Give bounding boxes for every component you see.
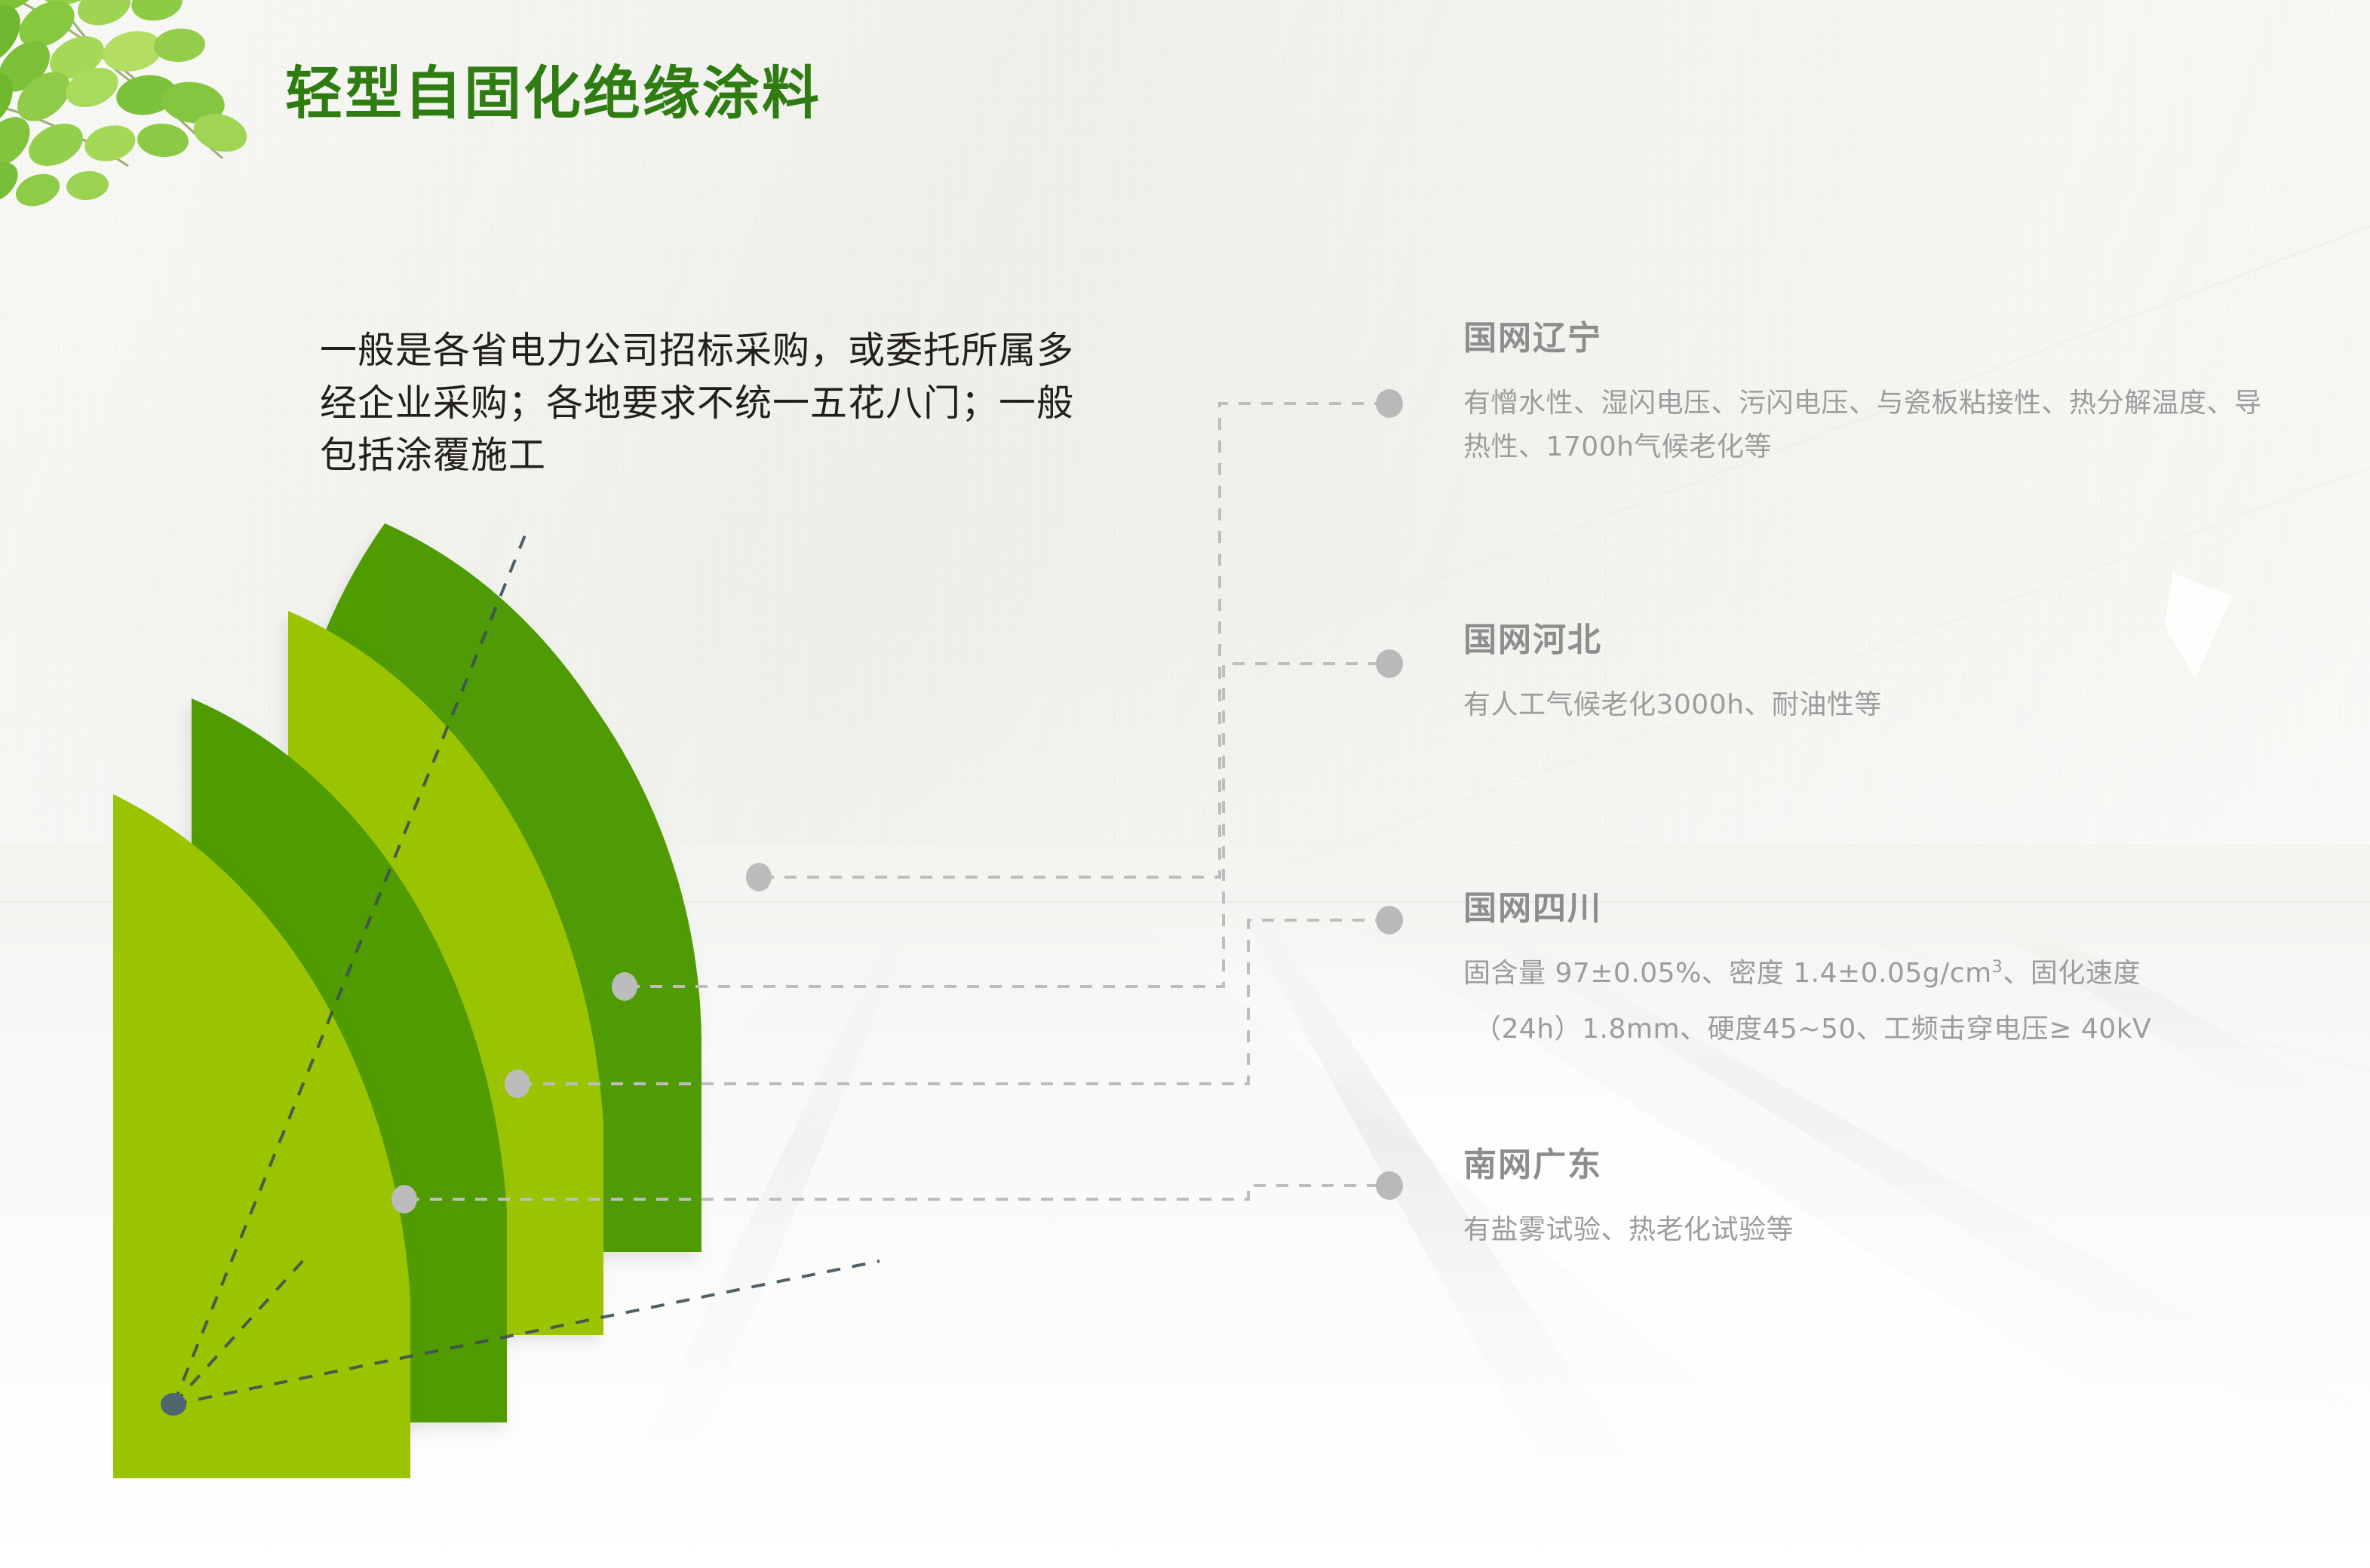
wire-sichuan [520,920,1380,1084]
section-dot-hebei [1376,649,1403,678]
section-heading-sichuan: 国网四川 [1463,881,2301,929]
section-heading-hebei: 国网河北 [1463,612,2278,661]
sichuan-spec-superscript: 3 [1992,957,2003,977]
blade-dot-1 [746,863,772,891]
section-dot-sichuan [1376,906,1403,934]
wire-liaoning [762,404,1380,877]
section-body-guangdong: 有盐雾试验、热老化试验等 [1463,1208,2278,1252]
section-body-sichuan-line1: 固含量 97±0.05%、密度 1.4±0.05g/cm3、固化速度 [1463,952,2301,996]
section-body-sichuan-line2: （24h）1.8mm、硬度45~50、工频击穿电压≥ 40kV [1463,1008,2301,1051]
section-body-sichuan: 固含量 97±0.05%、密度 1.4±0.05g/cm3、固化速度 （24h）… [1463,952,2301,1052]
section-guangdong: 南网广东 有盐雾试验、热老化试验等 [1463,1137,2278,1252]
section-body-hebei: 有人工气候老化3000h、耐油性等 [1463,683,2278,727]
section-liaoning: 国网辽宁 有憎水性、湿闪电压、污闪电压、与瓷板粘接性、热分解温度、导热性、170… [1463,311,2278,470]
section-sichuan: 国网四川 固含量 97±0.05%、密度 1.4±0.05g/cm3、固化速度 … [1463,881,2301,1052]
section-hebei: 国网河北 有人工气候老化3000h、耐油性等 [1463,612,2278,727]
sichuan-spec-post: 、固化速度 [2003,958,2141,989]
blade-dot-2 [612,972,637,1001]
slide-canvas: 轻型自固化绝缘涂料 一般是各省电力公司招标采购，或委托所属多经企业采购；各地要求… [0,0,2370,1568]
section-body-liaoning: 有憎水性、湿闪电压、污闪电压、与瓷板粘接性、热分解温度、导热性、1700h气候老… [1463,382,2278,470]
connector-wires [0,0,2370,1568]
blade-dot-4 [391,1185,417,1214]
wire-hebei [628,664,1380,987]
section-heading-liaoning: 国网辽宁 [1463,311,2278,359]
section-dot-liaoning [1376,389,1403,418]
blade-dot-3 [505,1069,530,1098]
section-dot-guangdong [1376,1171,1403,1200]
sichuan-spec-pre: 固含量 97±0.05%、密度 1.4±0.05g/cm [1463,958,1992,989]
section-heading-guangdong: 南网广东 [1463,1137,2278,1186]
wire-guangdong [407,1186,1380,1199]
